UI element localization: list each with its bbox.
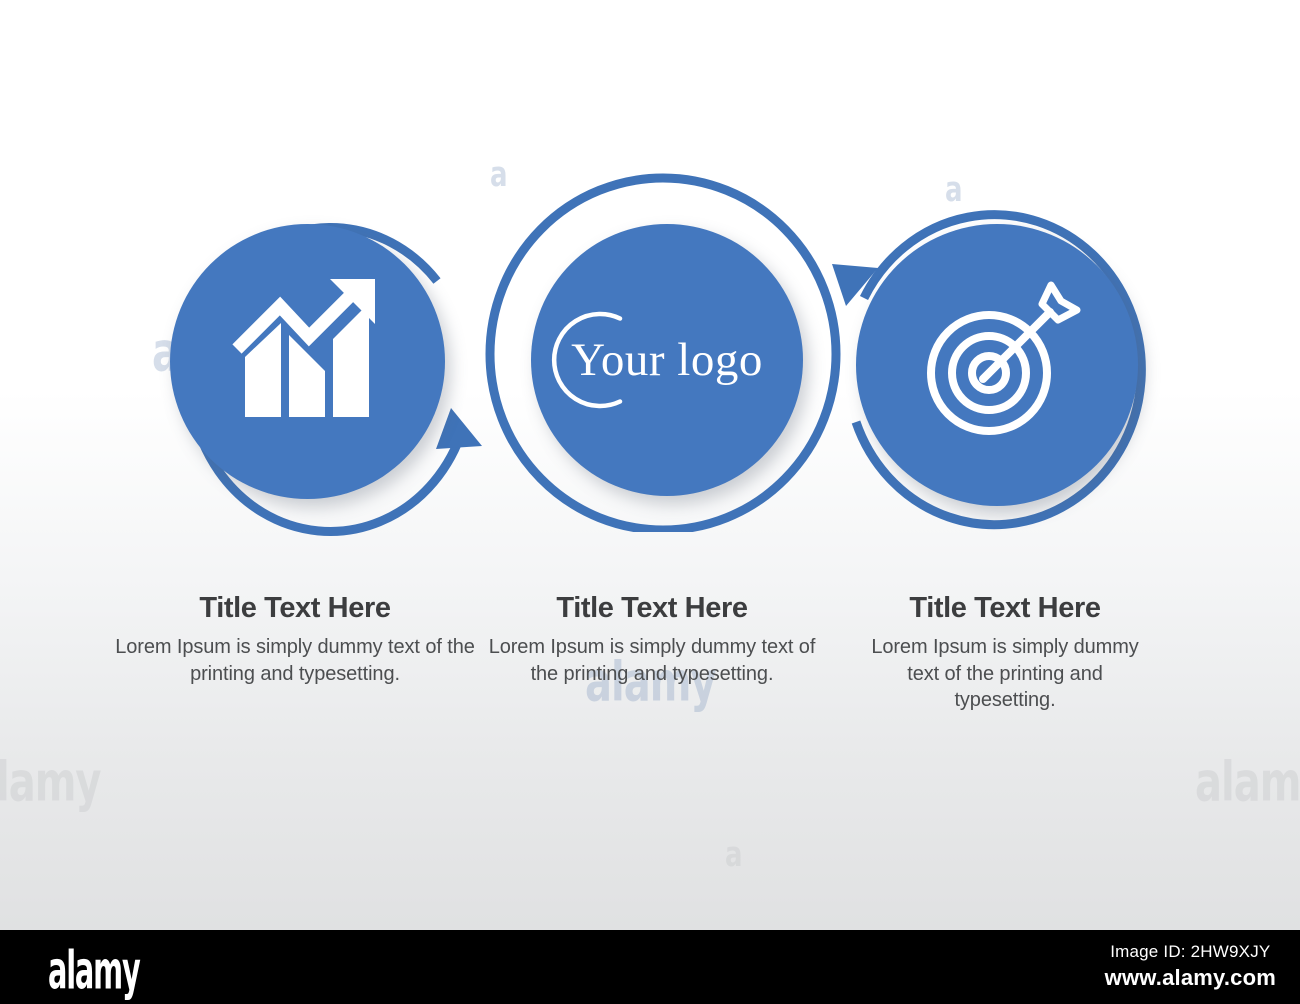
step-2-title: Title Text Here xyxy=(487,592,817,625)
step-1-caption: Title Text Here Lorem Ipsum is simply du… xyxy=(110,592,480,687)
alamy-logo: alamy xyxy=(48,942,140,1001)
step-2-caption: Title Text Here Lorem Ipsum is simply du… xyxy=(487,592,817,687)
step-item-3[interactable] xyxy=(820,172,1200,552)
target-arrow-icon xyxy=(911,279,1083,451)
step-3-graphic xyxy=(820,172,1200,552)
step-3-disc xyxy=(856,224,1138,506)
step-3-title: Title Text Here xyxy=(855,592,1155,625)
step-1-disc xyxy=(170,224,445,499)
step-3-body: Lorem Ipsum is simply dummy text of the … xyxy=(855,634,1155,714)
step-1-title: Title Text Here xyxy=(110,592,480,625)
step-item-1[interactable] xyxy=(120,172,500,552)
step-1-body: Lorem Ipsum is simply dummy text of the … xyxy=(110,634,480,687)
step-3-caption: Title Text Here Lorem Ipsum is simply du… xyxy=(855,592,1155,714)
step-list: Your logo xyxy=(0,0,1300,930)
step-2-graphic: Your logo xyxy=(483,172,843,532)
footer-meta: Image ID: 2HW9XJY www.alamy.com xyxy=(1105,942,1276,991)
step-2-body: Lorem Ipsum is simply dummy text of the … xyxy=(487,634,817,687)
step-2-disc: Your logo xyxy=(531,224,803,496)
alamy-footer-bar: alamy Image ID: 2HW9XJY www.alamy.com xyxy=(0,930,1300,1004)
logo-placeholder-text: Your logo xyxy=(571,337,763,384)
alamy-url-label: www.alamy.com xyxy=(1105,965,1276,991)
image-id-label: Image ID: 2HW9XJY xyxy=(1105,942,1276,962)
step-item-2[interactable]: Your logo xyxy=(483,172,843,532)
infographic-canvas: alamy a a alamy a alamy a alamy alamy a xyxy=(0,0,1300,930)
step-1-graphic xyxy=(120,172,500,552)
growth-bar-chart-icon xyxy=(223,277,393,447)
